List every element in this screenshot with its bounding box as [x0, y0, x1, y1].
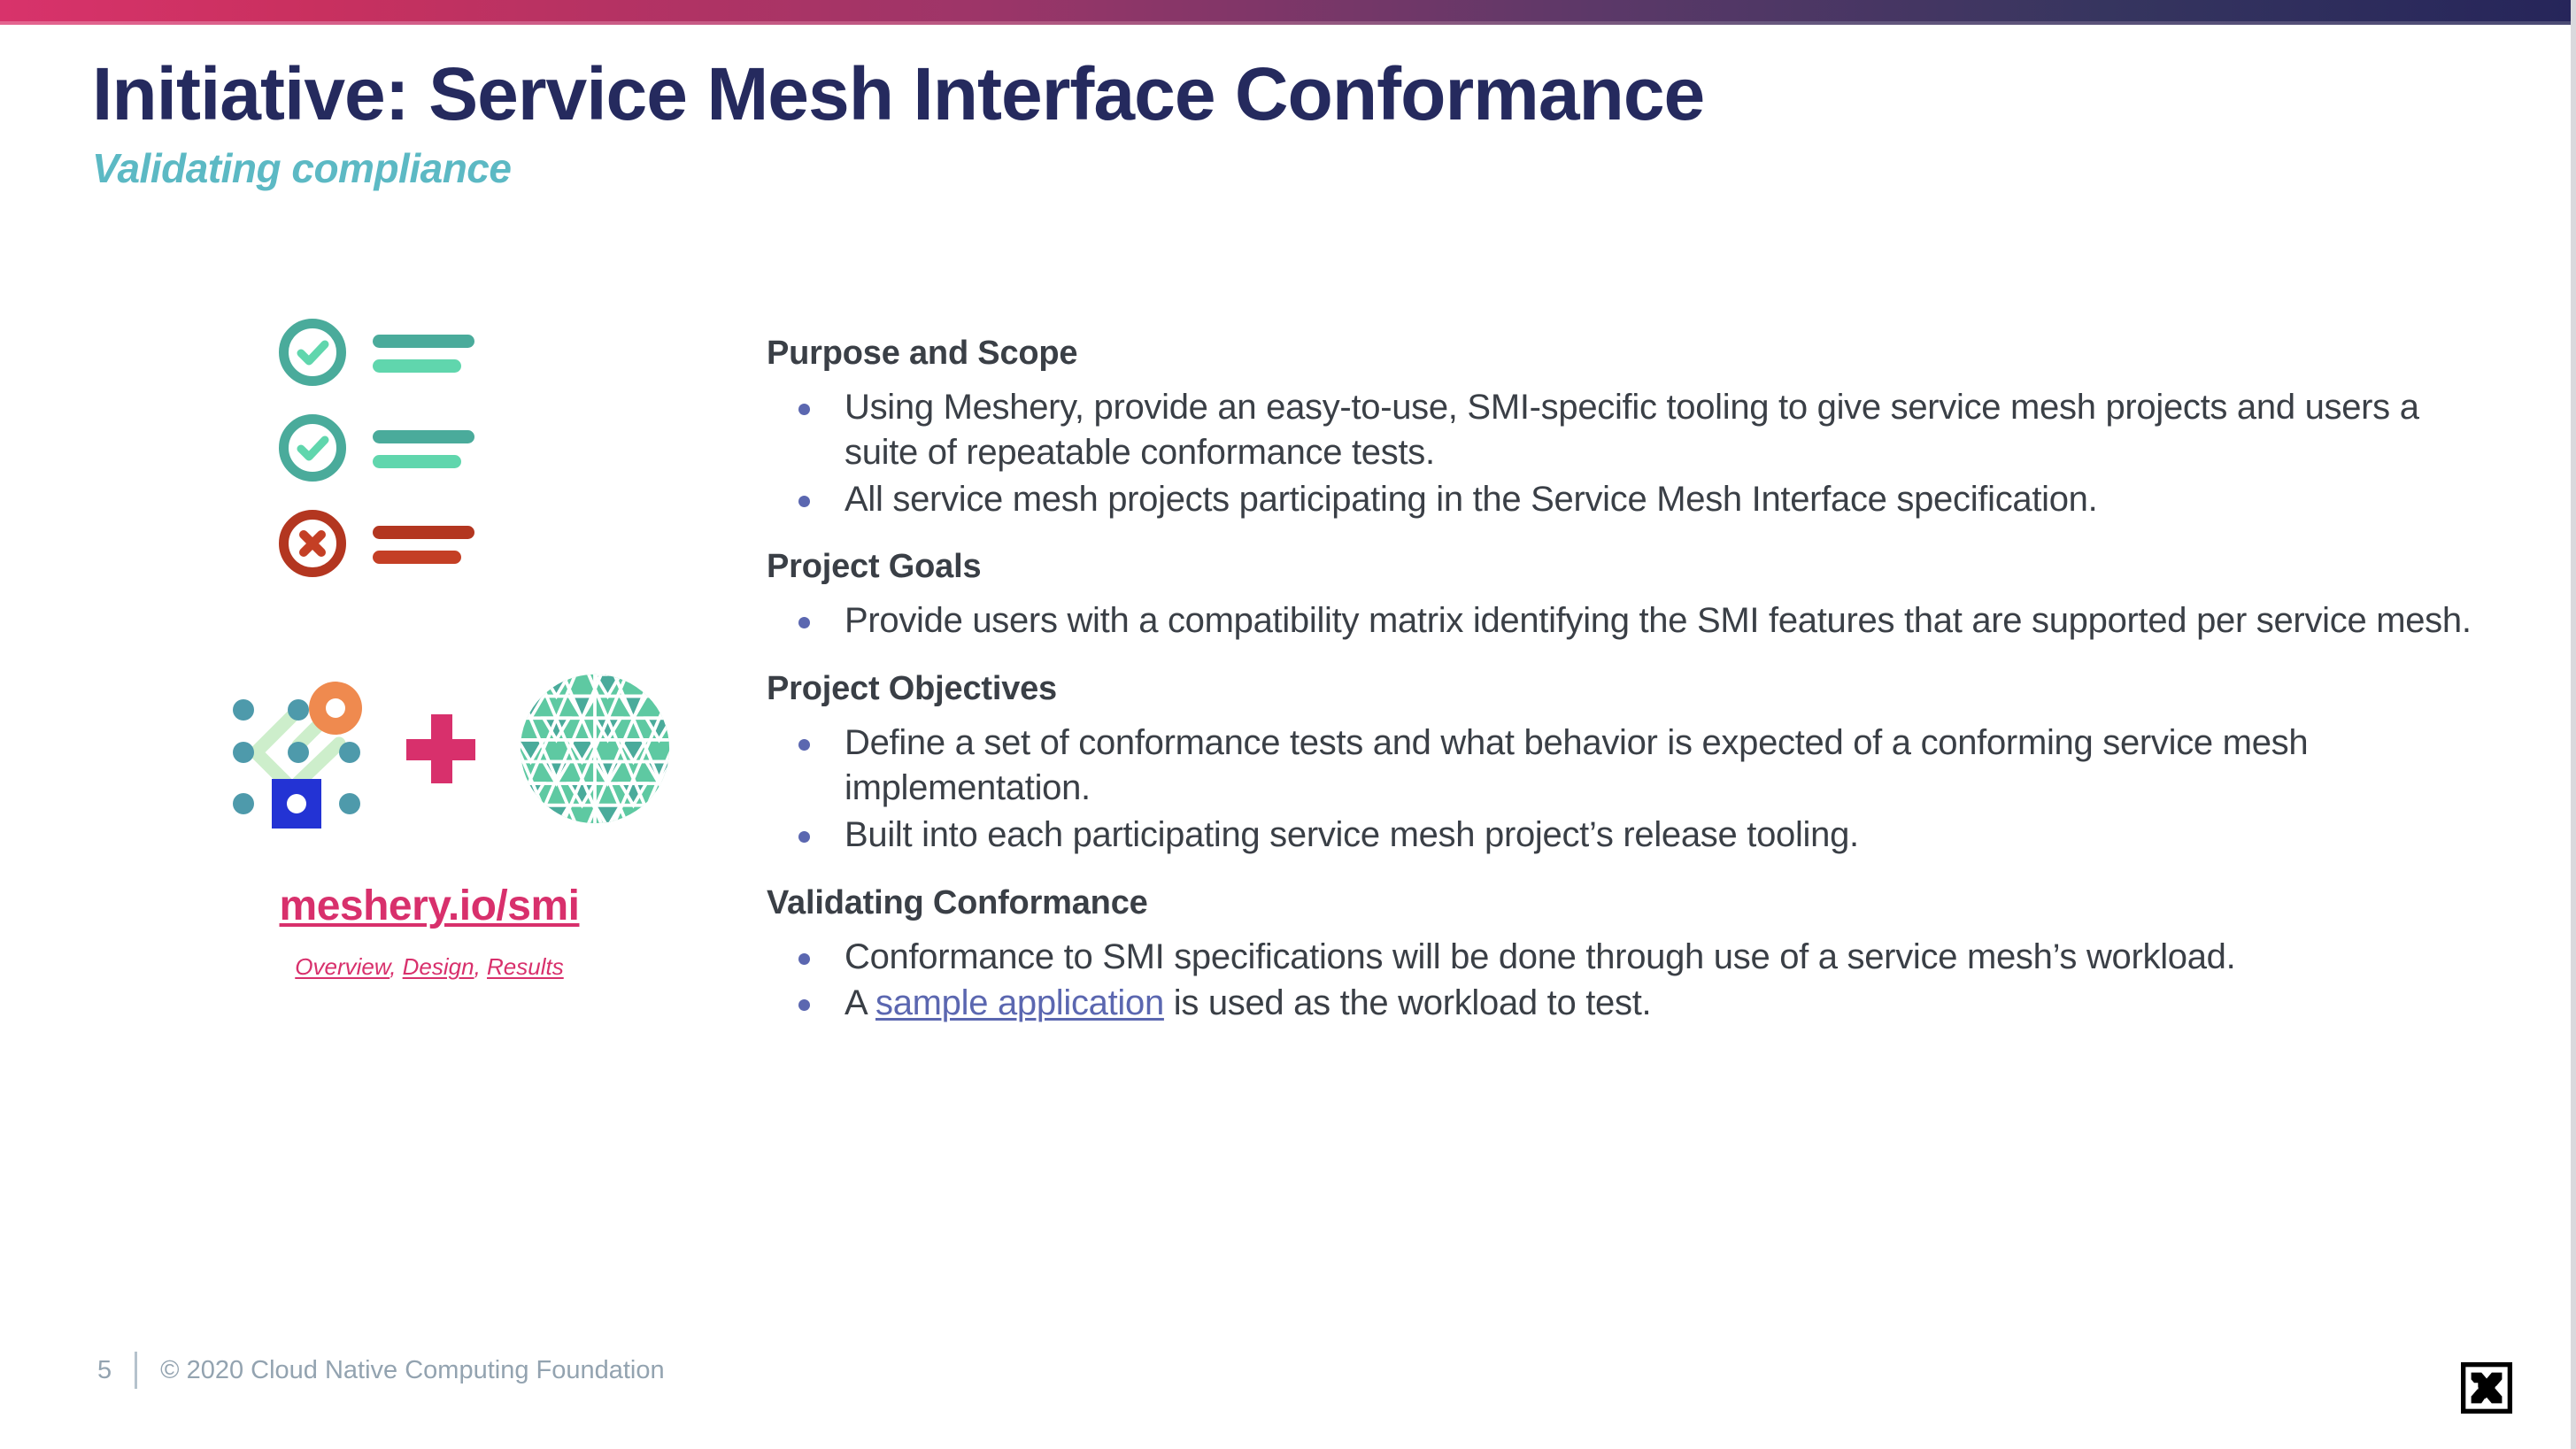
list-item: Define a set of conformance tests and wh… — [783, 721, 2502, 811]
checklist-row-pass-2 — [279, 414, 779, 482]
bar-secondary — [373, 455, 461, 468]
copyright-text: © 2020 Cloud Native Computing Foundation — [160, 1356, 665, 1385]
check-circle-icon — [279, 319, 346, 386]
content-column: Purpose and Scope Using Meshery, provide… — [767, 335, 2502, 1029]
list-item: Conformance to SMI specifications will b… — [783, 935, 2502, 980]
bullet-text-prefix: A — [845, 983, 875, 1022]
x-circle-icon — [279, 510, 346, 577]
top-accent-bar-shadow — [0, 21, 2571, 25]
section-heading: Validating Conformance — [767, 884, 2502, 922]
section-heading: Purpose and Scope — [767, 335, 2502, 373]
bar-secondary — [373, 359, 461, 373]
checklist-bars — [373, 428, 474, 468]
plus-icon — [406, 714, 475, 783]
section-project-objectives: Project Objectives Define a set of confo… — [767, 670, 2502, 857]
list-item: All service mesh projects participating … — [783, 477, 2502, 522]
sub-link-separator-2: , — [474, 953, 487, 980]
list-item: Built into each participating service me… — [783, 813, 2502, 858]
checklist-bars — [373, 524, 474, 564]
smi-logo-icon — [518, 672, 672, 826]
page-number: 5 — [97, 1356, 112, 1385]
bullet-list: Conformance to SMI specifications will b… — [783, 935, 2502, 1027]
list-item: Using Meshery, provide an easy-to-use, S… — [783, 385, 2502, 475]
section-project-goals: Project Goals Provide users with a compa… — [767, 548, 2502, 644]
meshery-smi-link[interactable]: meshery.io/smi — [280, 883, 580, 929]
slide: Initiative: Service Mesh Interface Confo… — [0, 0, 2576, 1449]
bullet-list: Using Meshery, provide an easy-to-use, S… — [783, 385, 2502, 521]
list-item: Provide users with a compatibility matri… — [783, 598, 2502, 644]
bar-primary — [373, 526, 474, 539]
footer-divider — [135, 1352, 137, 1389]
bar-secondary — [373, 551, 461, 564]
bar-primary — [373, 335, 474, 348]
sub-link-separator-1: , — [389, 953, 402, 980]
sub-links: Overview, Design, Results — [89, 953, 779, 981]
bar-primary — [373, 430, 474, 443]
design-link[interactable]: Design — [403, 953, 474, 980]
section-purpose-and-scope: Purpose and Scope Using Meshery, provide… — [767, 335, 2502, 521]
footer: 5 © 2020 Cloud Native Computing Foundati… — [97, 1352, 665, 1389]
checklist-row-pass-1 — [279, 319, 779, 386]
bullet-text-suffix: is used as the workload to test. — [1164, 983, 1651, 1022]
results-link[interactable]: Results — [487, 953, 564, 980]
page-title: Initiative: Service Mesh Interface Confo… — [92, 55, 1704, 134]
top-accent-bar — [0, 0, 2571, 21]
bullet-list: Provide users with a compatibility matri… — [783, 598, 2502, 644]
check-circle-icon — [279, 414, 346, 482]
checklist-row-fail — [279, 510, 779, 577]
overview-link[interactable]: Overview — [295, 953, 389, 980]
meshery-smi-link-wrapper: meshery.io/smi — [89, 882, 779, 930]
meshery-logo-icon — [204, 669, 364, 829]
list-item-with-link: A sample application is used as the work… — [783, 981, 2502, 1026]
conformance-checklist — [279, 319, 779, 577]
sample-application-link[interactable]: sample application — [875, 983, 1164, 1022]
section-heading: Project Goals — [767, 548, 2502, 586]
logo-row — [89, 669, 779, 829]
section-heading: Project Objectives — [767, 670, 2502, 708]
layer5-logo-icon — [2461, 1362, 2512, 1414]
left-visual-column: meshery.io/smi Overview, Design, Results — [89, 319, 779, 981]
title-block: Initiative: Service Mesh Interface Confo… — [92, 55, 1704, 192]
section-validating-conformance: Validating Conformance Conformance to SM… — [767, 884, 2502, 1027]
bullet-list: Define a set of conformance tests and wh… — [783, 721, 2502, 857]
checklist-bars — [373, 333, 474, 373]
page-subtitle: Validating compliance — [92, 144, 1704, 192]
